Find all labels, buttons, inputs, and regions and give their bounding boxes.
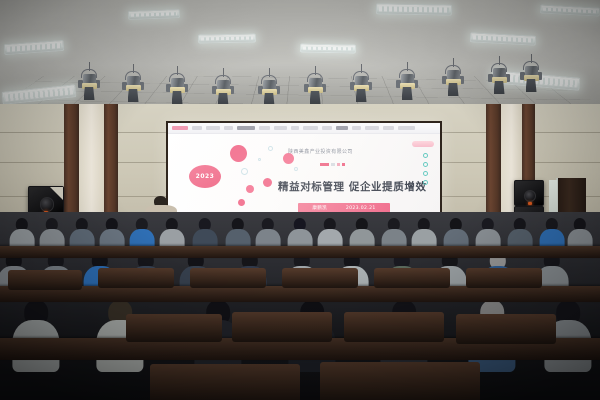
stage-light-barndoor (84, 87, 95, 100)
seat-back[interactable] (98, 268, 174, 288)
seat-back[interactable] (374, 268, 450, 288)
slide-deco-bar (331, 163, 335, 166)
stage-light (520, 54, 542, 94)
stage-light (304, 66, 326, 106)
stage-light (396, 62, 418, 102)
toolbar-chip[interactable] (274, 126, 287, 130)
slide-date: 2023.02.21 (346, 206, 376, 211)
slide-blob (294, 167, 298, 171)
stage-light (488, 56, 510, 96)
projection-screen-frame: 2023 陕西美鑫产业投资有限公司 精益对标管理 促企业提质增效 康鹏凯 202… (166, 121, 442, 225)
slide-main-title: 精益对标管理 促企业提质增效 (278, 179, 427, 194)
stage-light-barndoor (310, 91, 321, 104)
slide-year-text: 2023 (196, 173, 215, 180)
refresh-icon[interactable] (423, 162, 428, 167)
audience-area (0, 212, 600, 400)
slide-blob (241, 168, 248, 175)
speaker-led (528, 202, 532, 205)
slide-app-toolbar (168, 123, 440, 134)
stage-light-barndoor (128, 89, 139, 102)
toolbar-chip[interactable] (259, 126, 270, 130)
toolbar-chip[interactable] (336, 126, 348, 130)
projection-screen: 2023 陕西美鑫产业投资有限公司 精益对标管理 促企业提质增效 康鹏凯 202… (168, 123, 440, 223)
stage-light (166, 66, 188, 106)
stage-light-barndoor (448, 83, 459, 96)
slide-blob (258, 158, 261, 161)
slide-decorative-bars (320, 163, 345, 166)
refresh-icon[interactable] (423, 153, 428, 158)
stage-light-barndoor (402, 87, 413, 100)
toolbar-chip[interactable] (365, 126, 379, 130)
stage-light (350, 64, 372, 104)
slide-organization-name: 陕西美鑫产业投资有限公司 (288, 148, 353, 155)
toolbar-chip[interactable] (206, 126, 220, 130)
toolbar-chip[interactable] (192, 126, 202, 130)
seat-back[interactable] (320, 362, 480, 400)
speaker-woofer (524, 190, 536, 202)
stage-light-barndoor (172, 91, 183, 104)
seat-back[interactable] (456, 314, 556, 344)
refresh-icon[interactable] (423, 171, 428, 176)
stage-light (122, 64, 144, 104)
stage-light (258, 68, 280, 108)
toolbar-chip[interactable] (237, 126, 255, 130)
slide-blob (230, 145, 247, 162)
slide-blob (268, 146, 273, 151)
slide-blob (263, 178, 272, 187)
toolbar-chip[interactable] (398, 126, 415, 130)
check-icon[interactable] (423, 180, 428, 185)
toolbar-chip[interactable] (322, 126, 332, 130)
seat-back[interactable] (344, 312, 444, 342)
seat-back[interactable] (8, 270, 82, 290)
stage-light (78, 62, 100, 102)
conference-hall-photo: 2023 陕西美鑫产业投资有限公司 精益对标管理 促企业提质增效 康鹏凯 202… (0, 0, 600, 400)
toolbar-chip[interactable] (383, 126, 394, 130)
stage-light-barndoor (494, 81, 505, 94)
toolbar-chip[interactable] (291, 126, 299, 130)
slide-blob (246, 185, 254, 193)
slide-deco-bar (342, 163, 345, 166)
slide-pill-button[interactable] (412, 141, 434, 147)
seat-back[interactable] (126, 314, 222, 342)
toolbar-chip[interactable] (352, 126, 361, 130)
seat-back[interactable] (150, 364, 300, 400)
toolbar-chip[interactable] (172, 126, 188, 130)
slide-deco-bar (320, 163, 329, 166)
pa-speaker (514, 180, 544, 206)
seat-back[interactable] (466, 268, 542, 288)
slide-deco-bar (337, 163, 340, 166)
stage-light (212, 68, 234, 108)
toolbar-chip[interactable] (303, 126, 318, 130)
stage-light (442, 58, 464, 98)
seat-row-bench[interactable] (0, 286, 600, 302)
seat-back[interactable] (190, 268, 266, 288)
seat-row-bench[interactable] (0, 246, 600, 258)
speaker-highlight (50, 187, 63, 200)
stage-light-barndoor (356, 89, 367, 102)
seat-back[interactable] (282, 268, 358, 288)
stage-light-barndoor (526, 79, 537, 92)
slide-presenter-name: 康鹏凯 (312, 205, 327, 211)
seat-back[interactable] (232, 312, 332, 342)
slide-year-badge: 2023 (189, 165, 221, 188)
slide-blob (238, 199, 245, 206)
toolbar-chip[interactable] (224, 126, 233, 130)
